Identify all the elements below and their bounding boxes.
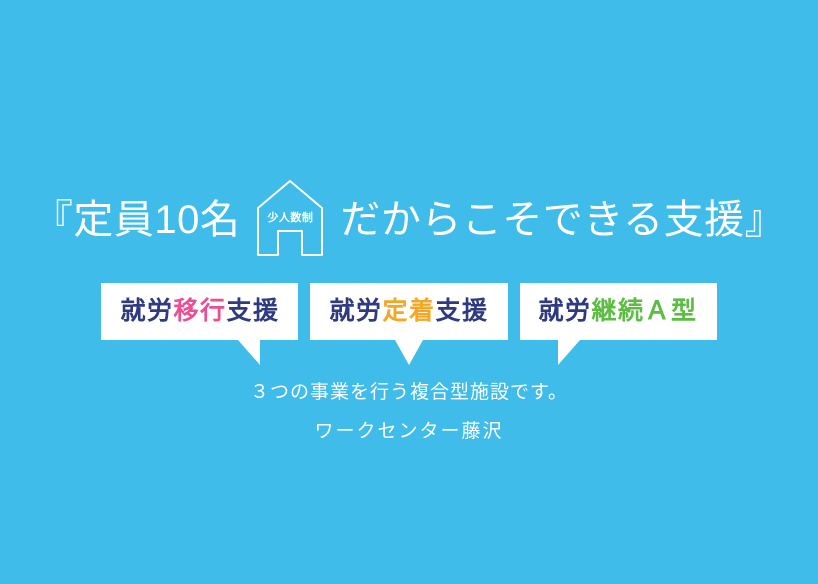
bubble-tail <box>395 340 423 365</box>
bubble-continuous-employment-type-a[interactable]: 就労継続Ａ型 <box>520 283 717 340</box>
house-badge-label: 少人数制 <box>254 213 326 224</box>
headline-right-text: だからこそできる支援』 <box>340 200 785 240</box>
bubble-tail <box>238 340 260 365</box>
caption-description: ３つの事業を行う複合型施設です。 <box>0 383 818 402</box>
hero-banner: 『定員10名 少人数制 だからこそできる支援』 就労移行支援 就労定着支援 <box>0 0 818 584</box>
service-bubble-group: 就労移行支援 就労定着支援 就労継続Ａ型 <box>0 283 818 340</box>
headline: 『定員10名 少人数制 だからこそできる支援』 <box>0 183 818 257</box>
bubble-employment-retention-support[interactable]: 就労定着支援 <box>310 283 507 340</box>
bubble-highlight-text: 定着 <box>383 297 436 325</box>
bubble-label: 就労移行支援 <box>120 299 279 324</box>
bubble-prefix-text: 就労 <box>329 297 382 325</box>
bubble-prefix-text: 就労 <box>539 297 592 325</box>
house-badge: 少人数制 <box>254 177 326 257</box>
bubble-label: 就労継続Ａ型 <box>539 299 698 324</box>
bubble-tail <box>558 340 580 365</box>
bubble-prefix-text: 就労 <box>120 297 173 325</box>
bubble-suffix-text: 支援 <box>436 297 489 325</box>
headline-left-text: 『定員10名 <box>33 200 241 240</box>
bubble-label: 就労定着支援 <box>329 299 488 324</box>
bubble-highlight-text: 移行 <box>173 297 226 325</box>
bubble-suffix-text: 支援 <box>226 297 279 325</box>
bubble-highlight-text: 継続Ａ型 <box>592 297 698 325</box>
facility-name: ワークセンター藤沢 <box>0 422 818 441</box>
bubble-employment-transition-support[interactable]: 就労移行支援 <box>101 283 298 340</box>
caption-block: ３つの事業を行う複合型施設です。 ワークセンター藤沢 <box>0 383 818 441</box>
